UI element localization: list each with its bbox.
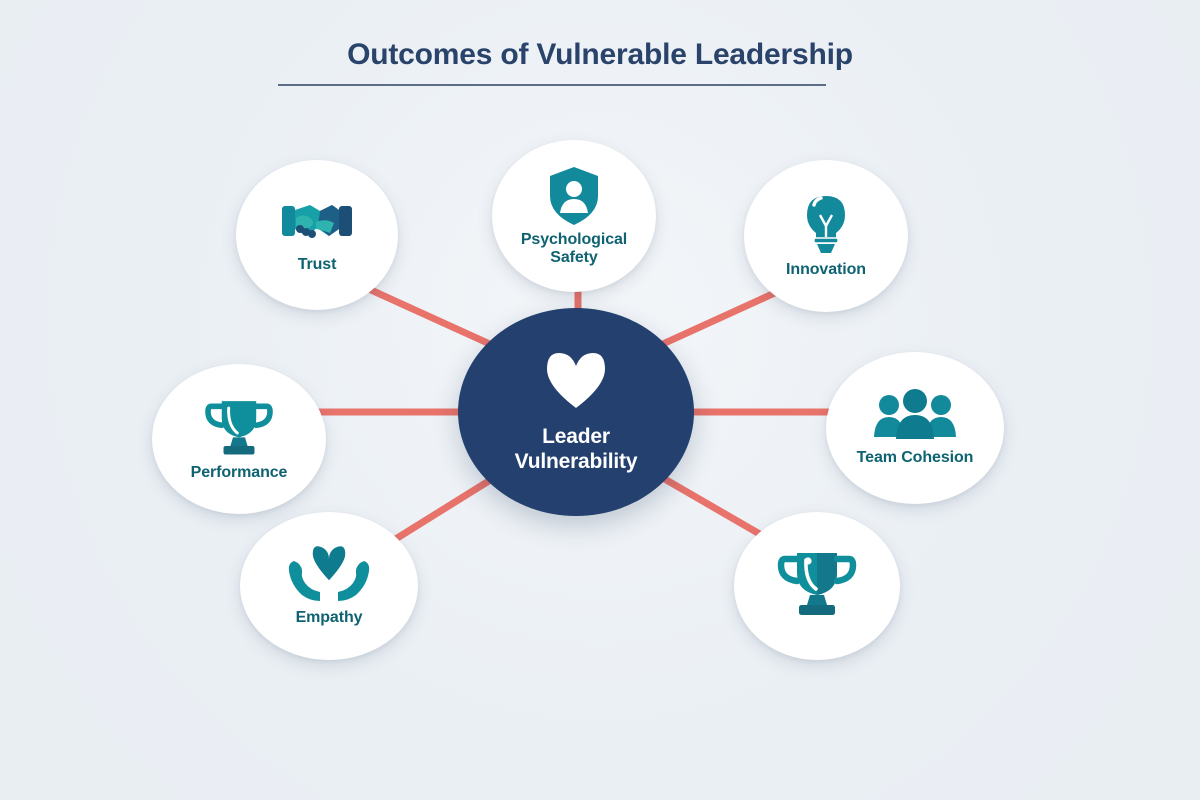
connector-center-award [656,474,770,540]
node-innovation[interactable]: Innovation [744,160,908,312]
people-group-icon [873,389,957,443]
page-title: Outcomes of Vulnerable Leadership [347,38,853,84]
node-team-cohesion-label: Team Cohesion [851,449,980,467]
node-empathy[interactable]: Empathy [240,512,418,660]
center-node-leader-vulnerability[interactable]: Leader Vulnerability [458,308,694,516]
connector-center-innovation [654,286,790,348]
hands-heart-icon [286,545,372,603]
heart-icon [541,350,611,415]
node-team-cohesion[interactable]: Team Cohesion [826,352,1004,504]
handshake-icon [280,196,354,250]
node-innovation-label: Innovation [780,261,872,279]
title-block: Outcomes of Vulnerable Leadership [0,38,1200,84]
node-psychological-safety-label: Psychological Safety [515,231,633,268]
node-performance-label: Performance [185,464,294,482]
node-trust-label: Trust [292,256,343,274]
title-underline-divider [278,84,826,86]
shield-person-icon [546,165,602,227]
diagram-canvas: Outcomes of Vulnerable Leadership [0,0,1200,800]
node-empathy-label: Empathy [290,609,369,627]
trophy-icon [775,547,859,619]
node-trust[interactable]: Trust [236,160,398,310]
connector-center-empathy [394,474,500,540]
node-performance[interactable]: Performance [152,364,326,514]
center-node-label: Leader Vulnerability [515,425,638,475]
node-psychological-safety[interactable]: Psychological Safety [492,140,656,292]
node-award[interactable] [734,512,900,660]
connector-center-trust [360,285,503,350]
trophy-icon [202,396,276,458]
lightbulb-icon [800,193,852,255]
